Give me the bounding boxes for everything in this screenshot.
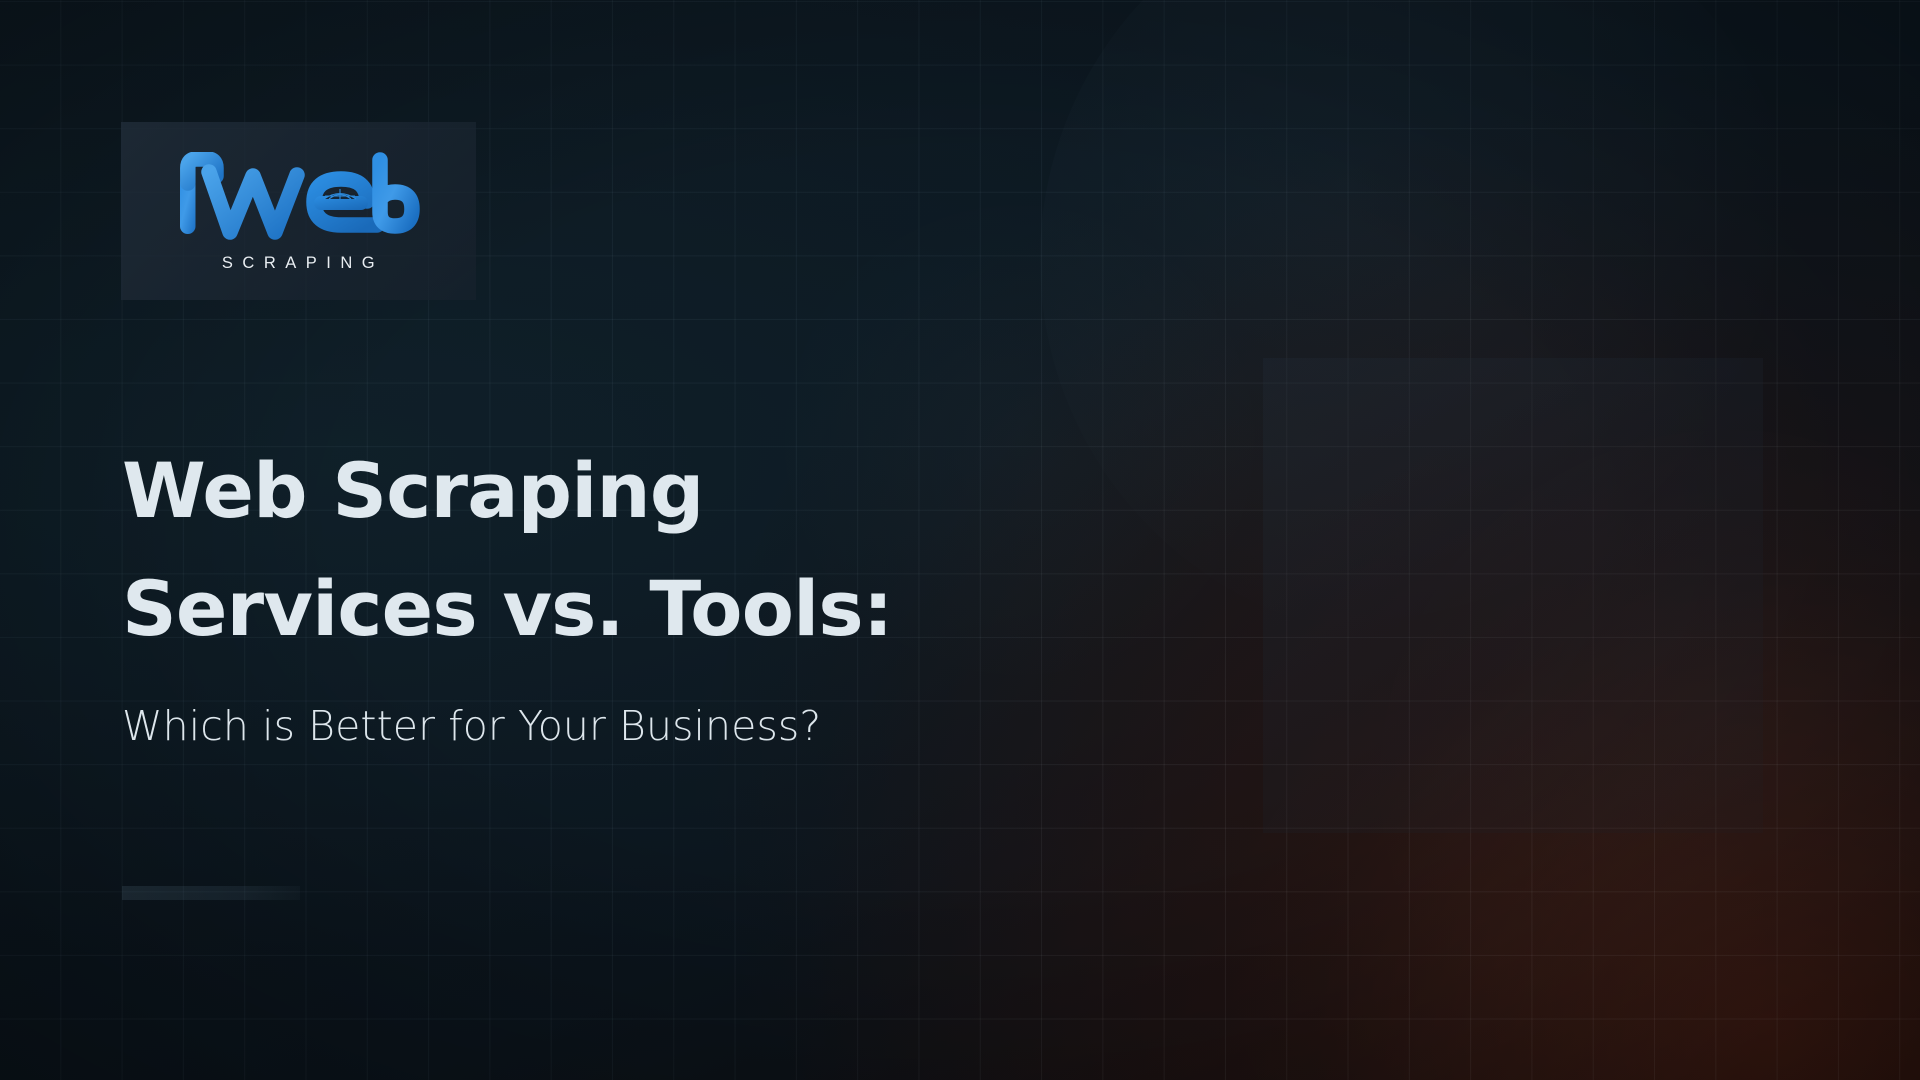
title-line-1: Web Scraping bbox=[122, 432, 1082, 550]
page-subtitle: Which is Better for Your Business? bbox=[122, 702, 821, 750]
page-title: Web Scraping Services vs. Tools: bbox=[122, 432, 1082, 668]
accent-bar bbox=[122, 886, 300, 900]
logo-panel[interactable]: SCRAPING bbox=[121, 122, 476, 300]
title-line-2: Services vs. Tools: bbox=[122, 550, 1082, 668]
illustration-panel bbox=[1263, 358, 1763, 833]
slide-canvas: SCRAPING Web Scraping Services vs. Tools… bbox=[0, 0, 1920, 1080]
iweb-wordmark-icon bbox=[174, 152, 424, 240]
globe-web-icon bbox=[324, 189, 356, 199]
logo-tagline: SCRAPING bbox=[222, 254, 384, 273]
